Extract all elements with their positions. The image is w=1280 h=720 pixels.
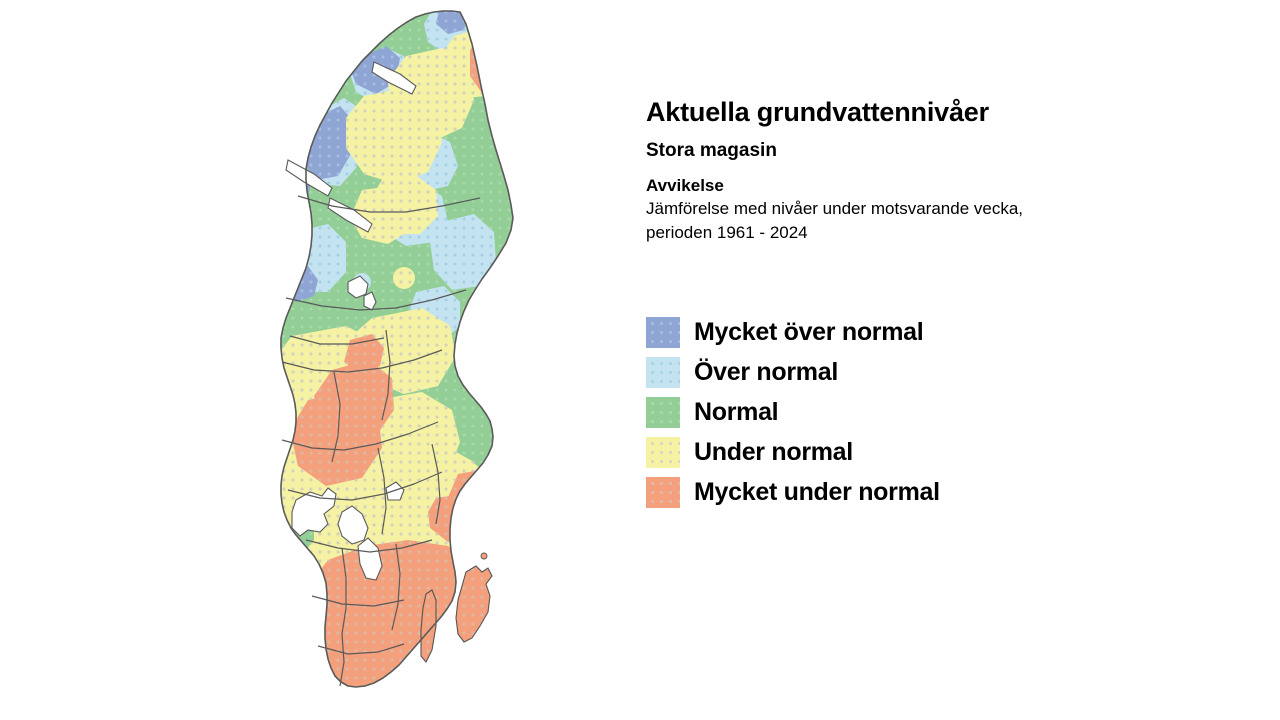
description-line-1: Jämförelse med nivåer under motsvarande … [646, 197, 1246, 221]
description-line-2: perioden 1961 - 2024 [646, 221, 1246, 245]
map-legend: Mycket över normal Över normal Normal Un… [646, 312, 1066, 512]
island-gotland [456, 553, 492, 642]
legend-item-much-above-normal: Mycket över normal [646, 312, 1066, 352]
legend-swatch-above-normal [646, 357, 680, 388]
deviation-label: Avvikelse [646, 175, 1246, 197]
page-title: Aktuella grundvattennivåer [646, 96, 1246, 128]
legend-item-above-normal: Över normal [646, 352, 1066, 392]
zone-below-normal [393, 267, 415, 289]
legend-swatch-much-below-normal [646, 477, 680, 508]
legend-label-much-below-normal: Mycket under normal [694, 478, 940, 506]
legend-label-much-above-normal: Mycket över normal [694, 318, 923, 346]
legend-item-below-normal: Under normal [646, 432, 1066, 472]
sweden-groundwater-map [236, 0, 566, 720]
legend-swatch-below-normal [646, 437, 680, 468]
map-zones [236, 0, 566, 720]
legend-swatch-much-above-normal [646, 317, 680, 348]
legend-label-normal: Normal [694, 398, 778, 426]
map-subtitle: Stora magasin [646, 139, 1246, 162]
legend-item-normal: Normal [646, 392, 1066, 432]
zone-much-below-normal [470, 24, 524, 96]
page-root: Aktuella grundvattennivåer Stora magasin… [0, 0, 1280, 720]
legend-label-below-normal: Under normal [694, 438, 853, 466]
map-svg [236, 0, 566, 720]
info-panel: Aktuella grundvattennivåer Stora magasin… [646, 96, 1246, 245]
legend-swatch-normal [646, 397, 680, 428]
legend-item-much-below-normal: Mycket under normal [646, 472, 1066, 512]
legend-label-above-normal: Över normal [694, 358, 838, 386]
zone-above-normal [248, 540, 278, 566]
